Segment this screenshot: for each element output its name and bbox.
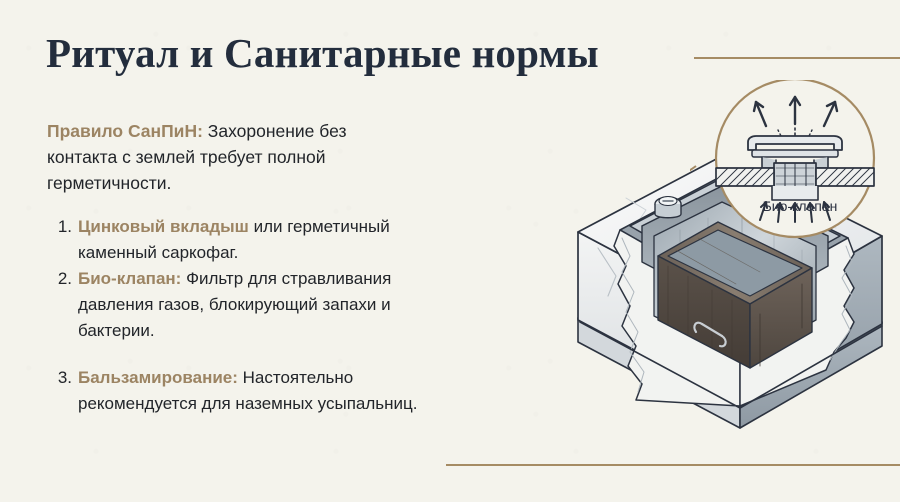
list-item: 1. Цинковый вкладыш или герметичный каме… <box>47 214 419 266</box>
lead-paragraph: Правило СанПиН: Захоронение без контакта… <box>47 118 403 196</box>
list-item: 3. Бальзамирование: Настоятельно рекомен… <box>47 365 419 417</box>
requirements-list: 1. Цинковый вкладыш или герметичный каме… <box>47 214 419 417</box>
list-spacer <box>47 344 419 365</box>
slide-root: Ритуал и Санитарные нормы Правило СанПиН… <box>0 0 900 502</box>
list-item-number: 1. <box>47 214 78 240</box>
list-item-body: Бальзамирование: Настоятельно рекомендуе… <box>78 365 419 417</box>
bio-valve-callout-svg <box>690 80 900 245</box>
list-item-number: 2. <box>47 266 78 292</box>
list-item-label: Бальзамирование: <box>78 368 238 387</box>
list-item-number: 3. <box>47 365 78 391</box>
list-item-label: Био-клапан: <box>78 269 181 288</box>
callout-leader-line <box>690 166 696 198</box>
title-divider-rule <box>694 57 900 59</box>
lead-label: Правило СанПиН: <box>47 121 203 141</box>
list-item-body: Цинковый вкладыш или герметичный каменны… <box>78 214 419 266</box>
list-item-body: Био-клапан: Фильтр для стравливания давл… <box>78 266 419 344</box>
list-item-label: Цинковый вкладыш <box>78 217 249 236</box>
bio-valve-callout <box>690 80 900 245</box>
list-item: 2. Био-клапан: Фильтр для стравливания д… <box>47 266 419 344</box>
bio-valve-fitting <box>655 197 681 218</box>
callout-label: Био-клапан <box>735 198 865 214</box>
